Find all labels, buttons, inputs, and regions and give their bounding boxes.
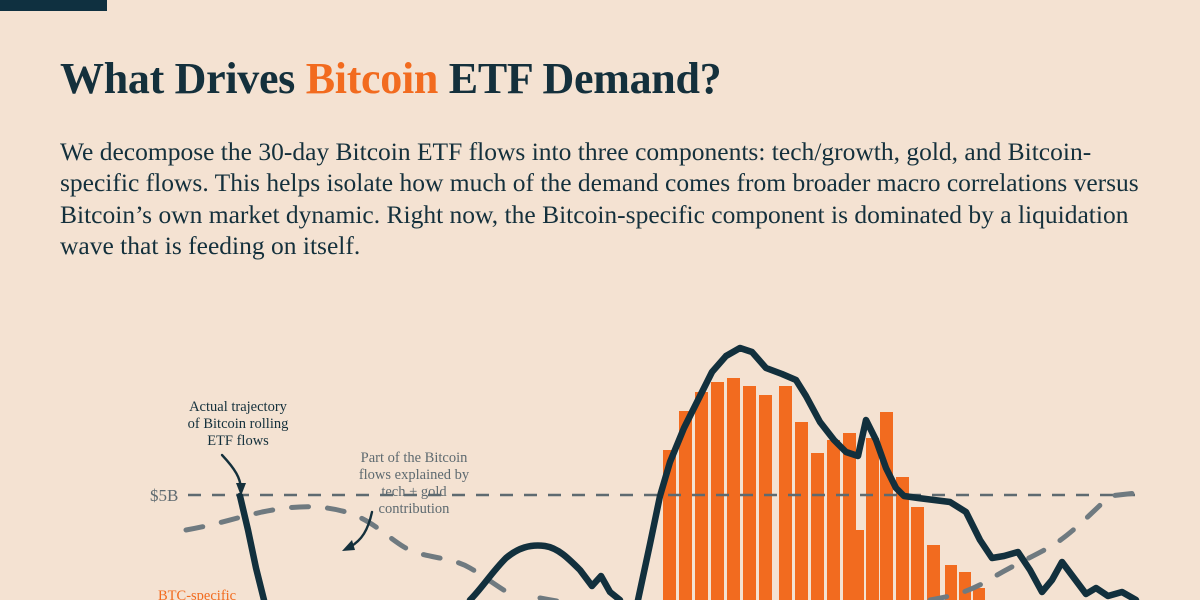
page-deck: We decompose the 30-day Bitcoin ETF flow…: [60, 136, 1165, 262]
page-title: What Drives Bitcoin ETF Demand?: [60, 55, 721, 103]
annotation-line: Actual trajectory: [189, 399, 287, 415]
bar: [711, 382, 724, 600]
infographic-root: What Drives Bitcoin ETF Demand? We decom…: [0, 0, 1200, 600]
bar: [743, 386, 756, 600]
annotation-line: ETF flows: [207, 433, 269, 449]
bar: [795, 422, 808, 600]
bar: [911, 507, 924, 600]
page-title-accent: Bitcoin: [306, 54, 438, 103]
bar-series-btc-specific: [663, 378, 985, 600]
bar: [880, 412, 893, 600]
page-title-part-2: ETF Demand?: [438, 54, 721, 103]
chart-area: [0, 300, 1200, 600]
bar: [827, 440, 840, 600]
annotation-line: Part of the Bitcoin: [361, 450, 468, 466]
annotation-line: tech + gold: [381, 484, 446, 500]
annot-arrowhead-explained: [342, 540, 355, 551]
bar: [927, 545, 940, 600]
bar: [866, 438, 879, 600]
bar: [727, 378, 740, 600]
top-accent-bar: [0, 0, 107, 11]
annotation-line: of Bitcoin rolling: [188, 416, 289, 432]
annotation-tech-gold: Part of the Bitcoin flows explained by t…: [334, 450, 494, 518]
bar: [959, 572, 971, 600]
bar: [851, 530, 864, 600]
series-actual-trajectory-mid: [470, 546, 620, 600]
annotation-line: contribution: [379, 501, 450, 517]
page-title-part-1: What Drives: [60, 54, 306, 103]
chart-plot: [0, 300, 1200, 600]
bar: [779, 386, 792, 600]
annotation-btc-specific: BTC-specific: [158, 588, 236, 600]
bar: [759, 395, 772, 600]
annotation-line: flows explained by: [359, 467, 469, 483]
annotation-actual-trajectory: Actual trajectory of Bitcoin rolling ETF…: [170, 399, 306, 450]
bar: [811, 453, 824, 600]
y-axis-tick-label: $5B: [150, 486, 178, 506]
